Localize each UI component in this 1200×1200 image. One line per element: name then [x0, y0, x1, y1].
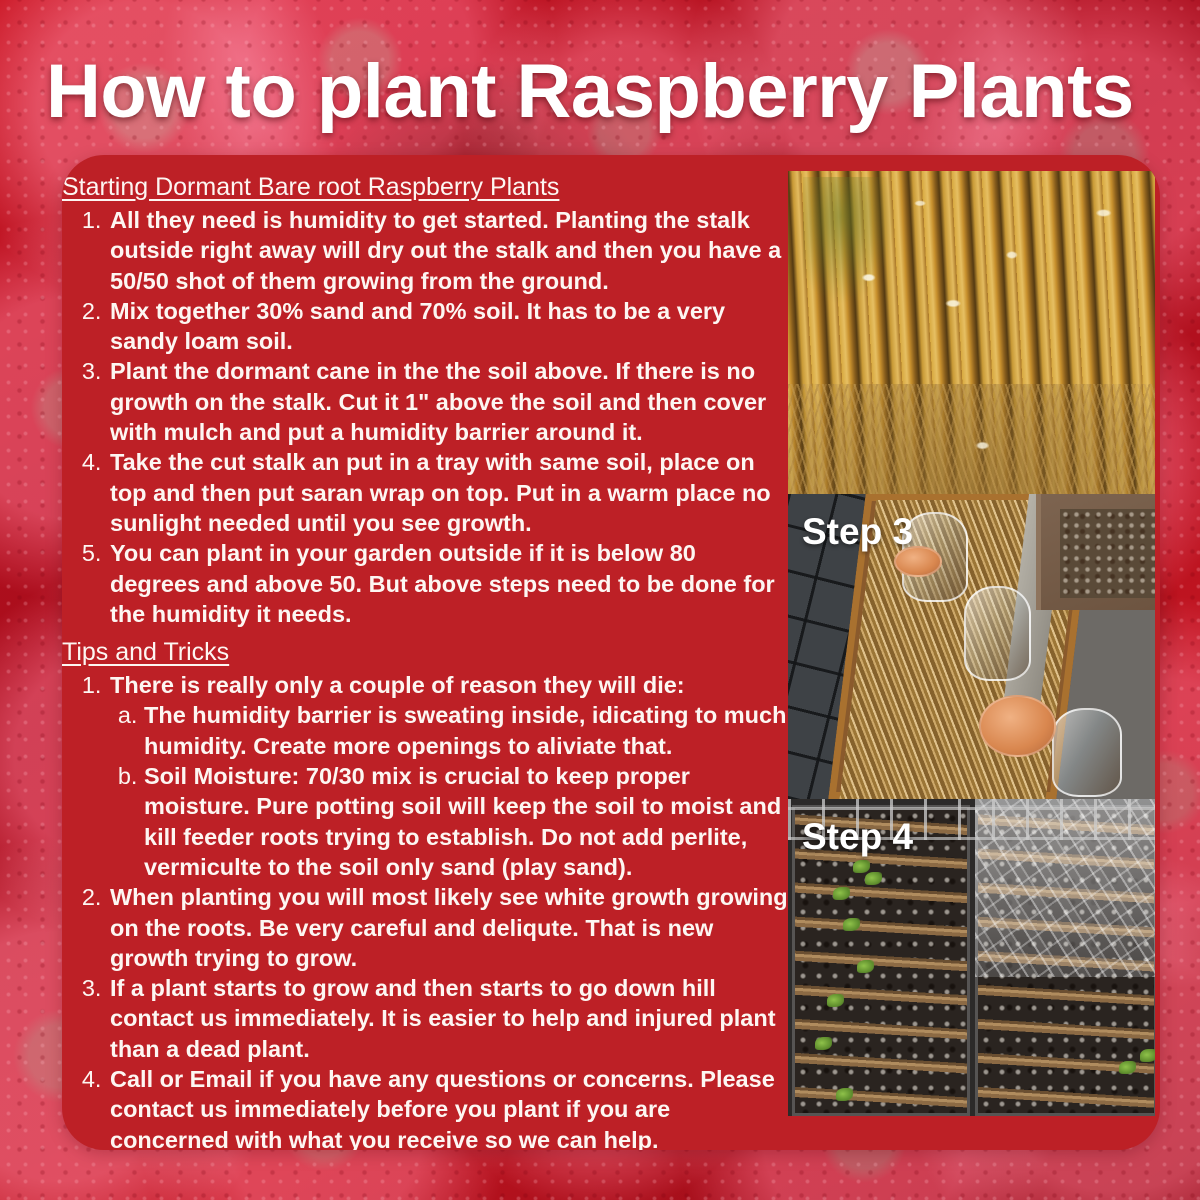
list-item: You can plant in your garden outside if … — [108, 538, 788, 629]
page-title: How to plant Raspberry Plants — [46, 50, 1166, 134]
photo-trays-with-cut-stalks: Step 4 — [788, 799, 1155, 1116]
instructions-column: Starting Dormant Bare root Raspberry Pla… — [62, 155, 788, 1150]
list-item: The humidity barrier is sweating inside,… — [144, 700, 788, 761]
list-item: Take the cut stalk an put in a tray with… — [108, 447, 788, 538]
list-item: Mix together 30% sand and 70% soil. It h… — [108, 296, 788, 357]
step-4-label: Step 4 — [802, 817, 913, 857]
poster: How to plant Raspberry Plants Starting D… — [0, 0, 1200, 1200]
photo-raised-bed-humidity-barriers: Step 3 — [788, 494, 1155, 799]
list-item: Call or Email if you have any questions … — [108, 1064, 788, 1150]
photo-bare-root-raspberry-canes — [788, 171, 1155, 494]
canes-highlights — [788, 171, 1155, 494]
photo-column: Step 3 — [788, 171, 1155, 1121]
tips-and-tricks-list: There is really only a couple of reason … — [62, 670, 788, 1150]
green-sprout — [843, 918, 860, 931]
section-heading-starting-dormant: Starting Dormant Bare root Raspberry Pla… — [62, 171, 788, 203]
plastic-bottle-barrier — [1052, 708, 1122, 797]
starting-dormant-steps-list: All they need is humidity to get started… — [62, 205, 788, 629]
list-item: There is really only a couple of reason … — [108, 670, 788, 882]
list-item: If a plant starts to grow and then start… — [108, 973, 788, 1064]
green-sprout — [1140, 1049, 1155, 1062]
green-sprout — [815, 1037, 832, 1050]
section-heading-tips-and-tricks: Tips and Tricks — [62, 636, 788, 668]
list-item: When planting you will most likely see w… — [108, 882, 788, 973]
content-card: Starting Dormant Bare root Raspberry Pla… — [62, 155, 1160, 1150]
list-item: All they need is humidity to get started… — [108, 205, 788, 296]
terracotta-saucer — [979, 695, 1056, 757]
list-item-text: There is really only a couple of reason … — [110, 672, 685, 698]
plastic-bottle-barrier — [964, 586, 1030, 682]
list-item: Plant the dormant cane in the the soil a… — [108, 356, 788, 447]
green-sprout — [1119, 1061, 1136, 1074]
list-item: Soil Moisture: 70/30 mix is crucial to k… — [144, 761, 788, 882]
tips-sublist: The humidity barrier is sweating inside,… — [110, 700, 788, 882]
planter-soil — [1060, 509, 1155, 597]
step-3-label: Step 3 — [802, 512, 913, 552]
